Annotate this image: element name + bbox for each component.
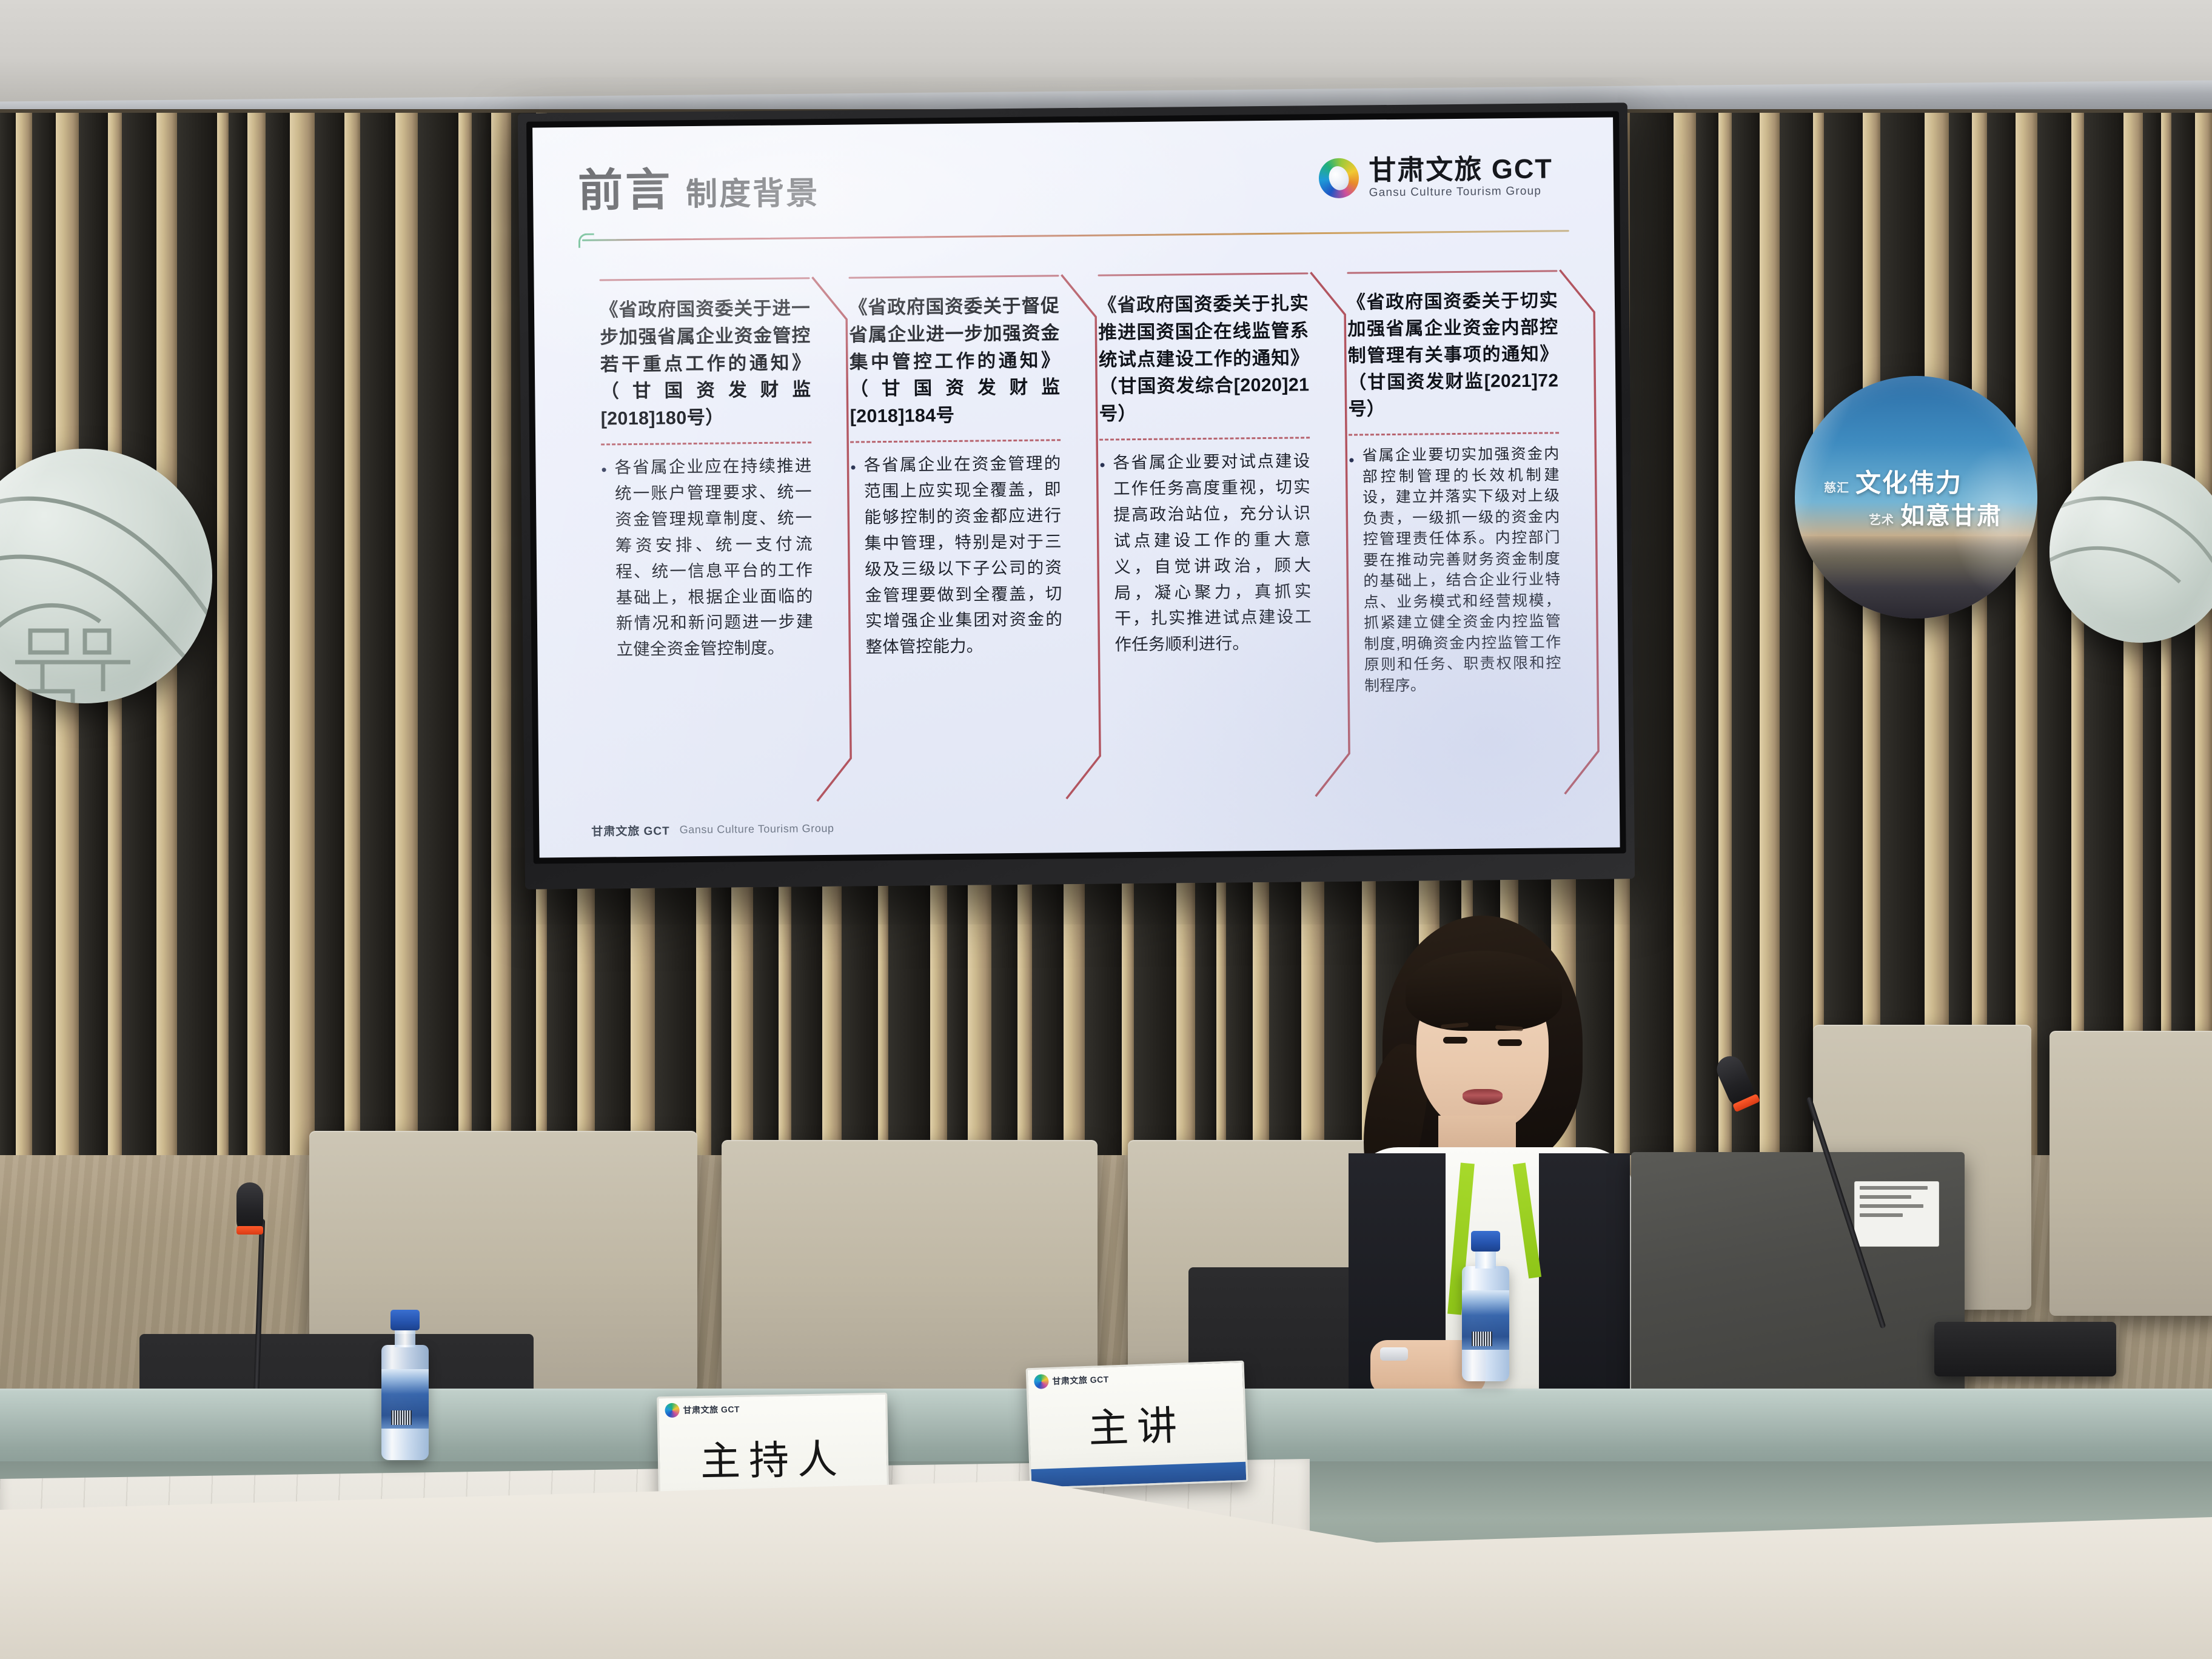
policy-column-4: 《省政府国资委关于切实加强省属企业资金内部控制管理有关事项的通知》（甘国资发财监… xyxy=(1326,270,1580,797)
wall-slat-dark xyxy=(472,113,491,1162)
column-dashed-divider xyxy=(601,441,811,445)
policy-document-title: 《省政府国资委关于进一步加强省属企业资金管控若干重点工作的通知》（甘国资发财监[… xyxy=(600,295,811,432)
policy-body-text: 各省属企业在资金管理的范围上应实现全覆盖，即能够控制的资金都应进行集中管理，特别… xyxy=(863,451,1062,660)
presentation-display[interactable]: 前言 制度背景 甘肃文旅 GCT Gansu Culture Tourism G… xyxy=(518,102,1635,890)
wall-slat-dark xyxy=(229,113,247,1162)
column-top-rule xyxy=(1347,270,1557,273)
policy-column-2: 《省政府国资委关于督促省属企业进一步加强资金集中管控工作的通知》（甘国资发财监[… xyxy=(828,275,1082,802)
wall-slat-dark xyxy=(1987,113,2016,1162)
footer-brand-chinese: 甘肃文旅 GCT xyxy=(591,822,670,839)
bullet-icon: • xyxy=(850,453,857,661)
gct-swirl-logo-icon xyxy=(1318,158,1359,199)
wall-slat-light xyxy=(2016,113,2037,1162)
wall-slat-dark xyxy=(1780,113,1813,1162)
wall-slat-light xyxy=(217,113,229,1162)
placard-role-name: 主讲 xyxy=(1028,1381,1245,1467)
gansu-tourism-decorative-plate: 慈汇 文化伟力 艺术 如意甘肃 xyxy=(1795,376,2037,618)
policy-column-3: 《省政府国资委关于扎实推进国资国企在线监管系统试点建设工作的通知》（甘国资发综合… xyxy=(1077,272,1331,799)
bullet-icon: • xyxy=(1349,446,1356,697)
policy-document-title: 《省政府国资委关于督促省属企业进一步加强资金集中管控工作的通知》（甘国资发财监[… xyxy=(849,292,1061,430)
microphone-indicator-ring-left xyxy=(236,1226,263,1235)
page-title: 前言 xyxy=(578,167,673,213)
column-dashed-divider xyxy=(850,439,1061,443)
wall-slat-light xyxy=(1925,113,1949,1162)
footer-brand-english: Gansu Culture Tourism Group xyxy=(680,822,834,836)
wall-slat-light xyxy=(1813,113,1824,1162)
wall-slat-light xyxy=(395,113,418,1162)
microphone-base-right[interactable] xyxy=(1934,1322,2116,1376)
eye-left xyxy=(1443,1037,1467,1044)
wall-slat-light xyxy=(1718,113,1732,1162)
policy-columns: 《省政府国资委关于进一步加强省属企业资金管控若干重点工作的通知》（甘国资发财监[… xyxy=(579,270,1581,804)
conference-room-scene: 慈汇 文化伟力 艺术 如意甘肃 xyxy=(0,0,2212,1659)
policy-document-title: 《省政府国资委关于扎实推进国资国企在线监管系统试点建设工作的通知》（甘国资发综合… xyxy=(1098,290,1310,427)
wall-slat-light xyxy=(458,113,472,1162)
wall-slat-dark xyxy=(360,113,395,1162)
wall-slat-dark xyxy=(418,113,458,1162)
title-rule-line xyxy=(582,230,1569,241)
celadon-decorative-plate-left xyxy=(0,449,212,703)
celadon-decorative-plate-right xyxy=(2049,461,2212,643)
laptop-asset-sticker xyxy=(1854,1181,1939,1247)
display-bezel: 前言 制度背景 甘肃文旅 GCT Gansu Culture Tourism G… xyxy=(526,111,1626,863)
wall-slat-light xyxy=(1760,113,1780,1162)
wall-slat-light xyxy=(1972,113,1987,1162)
slide-footer: 甘肃文旅 GCT Gansu Culture Tourism Group xyxy=(591,820,834,839)
bullet-icon: • xyxy=(1099,451,1107,659)
wall-slat-dark xyxy=(1732,113,1760,1162)
chair-backrest[interactable] xyxy=(2049,1031,2212,1316)
name-placard-speaker[interactable]: 甘肃文旅 GCT 主讲 xyxy=(1026,1361,1248,1489)
water-bottle-right[interactable] xyxy=(1455,1231,1516,1413)
column-dashed-divider xyxy=(1349,432,1559,436)
page-subtitle: 制度背景 xyxy=(686,167,820,214)
wristwatch xyxy=(1380,1347,1408,1361)
column-top-rule xyxy=(1098,272,1308,276)
wall-slat-dark xyxy=(1880,113,1925,1162)
wall-slat-dark xyxy=(1696,113,1718,1162)
wall-slat-light xyxy=(1863,113,1880,1162)
wall-slat-dark xyxy=(315,113,344,1162)
column-top-rule xyxy=(600,277,810,281)
bullet-icon: • xyxy=(601,455,608,663)
wall-slat-dark xyxy=(266,113,290,1162)
policy-body-text: 省属企业要切实加强资金内部控制管理的长效机制建设，建立并落实下级对上级负责，一级… xyxy=(1362,444,1561,697)
bangs xyxy=(1406,951,1562,1031)
title-underline-rule xyxy=(578,223,1575,248)
wall-slat-light xyxy=(290,113,315,1162)
policy-body-text: 各省属企业应在持续推进统一账户管理要求、统一资金管理规章制度、统一筹资安排、统一… xyxy=(614,453,813,663)
chair-backrest[interactable] xyxy=(722,1140,1098,1398)
slide-title-group: 前言 制度背景 xyxy=(578,156,820,215)
logo-text-english: Gansu Culture Tourism Group xyxy=(1369,185,1553,200)
policy-column-1: 《省政府国资委关于进一步加强省属企业资金管控若干重点工作的通知》（甘国资发财监[… xyxy=(579,277,833,804)
wall-slat-dark xyxy=(1824,113,1863,1162)
powerpoint-slide: 前言 制度背景 甘肃文旅 GCT Gansu Culture Tourism G… xyxy=(532,117,1620,857)
policy-body-text: 各省属企业要对试点建设工作任务高度重视，切实提高政治站位，充分认识试点建设工作的… xyxy=(1113,448,1312,658)
chevron-divider-icon xyxy=(1558,260,1601,803)
placard-logo-text: 甘肃文旅 GCT xyxy=(683,1403,740,1416)
wall-slat-light xyxy=(247,113,266,1162)
logo-text-chinese: 甘肃文旅 GCT xyxy=(1369,154,1553,184)
wall-slat-light xyxy=(491,113,511,1162)
brand-logo: 甘肃文旅 GCT Gansu Culture Tourism Group xyxy=(1318,149,1575,200)
wall-slat-dark xyxy=(1949,113,1972,1162)
eye-right xyxy=(1498,1039,1522,1046)
column-top-rule xyxy=(849,275,1059,278)
vest-right-panel xyxy=(1539,1153,1630,1408)
policy-document-title: 《省政府国资委关于切实加强省属企业资金内部控制管理有关事项的通知》（甘国资发财监… xyxy=(1347,287,1559,423)
column-dashed-divider xyxy=(1099,437,1310,440)
mouth xyxy=(1463,1089,1503,1105)
water-bottle-left[interactable] xyxy=(375,1310,435,1492)
slide-screen: 前言 制度背景 甘肃文旅 GCT Gansu Culture Tourism G… xyxy=(532,117,1620,857)
wall-slat-light xyxy=(344,113,360,1162)
gct-swirl-logo-icon xyxy=(665,1403,679,1418)
